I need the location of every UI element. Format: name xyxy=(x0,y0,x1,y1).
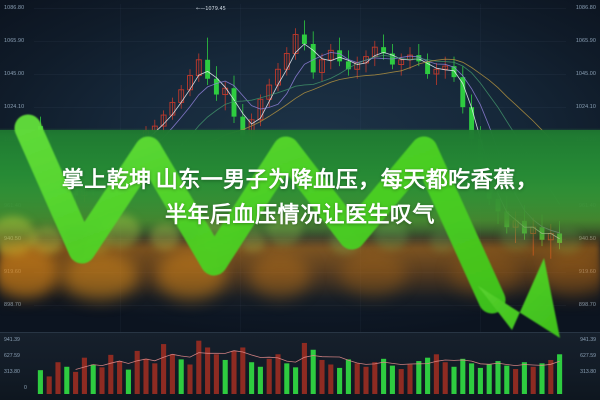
stock-chart-banner: 1086.80 1065.90 1045.00 1024.10 1003.20 … xyxy=(0,0,600,400)
headline-line-2: 半年后血压情况让医生叹气 xyxy=(0,198,600,233)
page-headline: 掌上乾坤山东一男子为降血压，每天都吃香蕉， 半年后血压情况让医生叹气 xyxy=(0,163,600,233)
headline-text-1: 山东一男子为降血压，每天都吃香蕉， xyxy=(156,168,539,193)
brand-label: 掌上乾坤 xyxy=(62,168,152,193)
headline-line-1: 掌上乾坤山东一男子为降血压，每天都吃香蕉， xyxy=(0,163,600,198)
